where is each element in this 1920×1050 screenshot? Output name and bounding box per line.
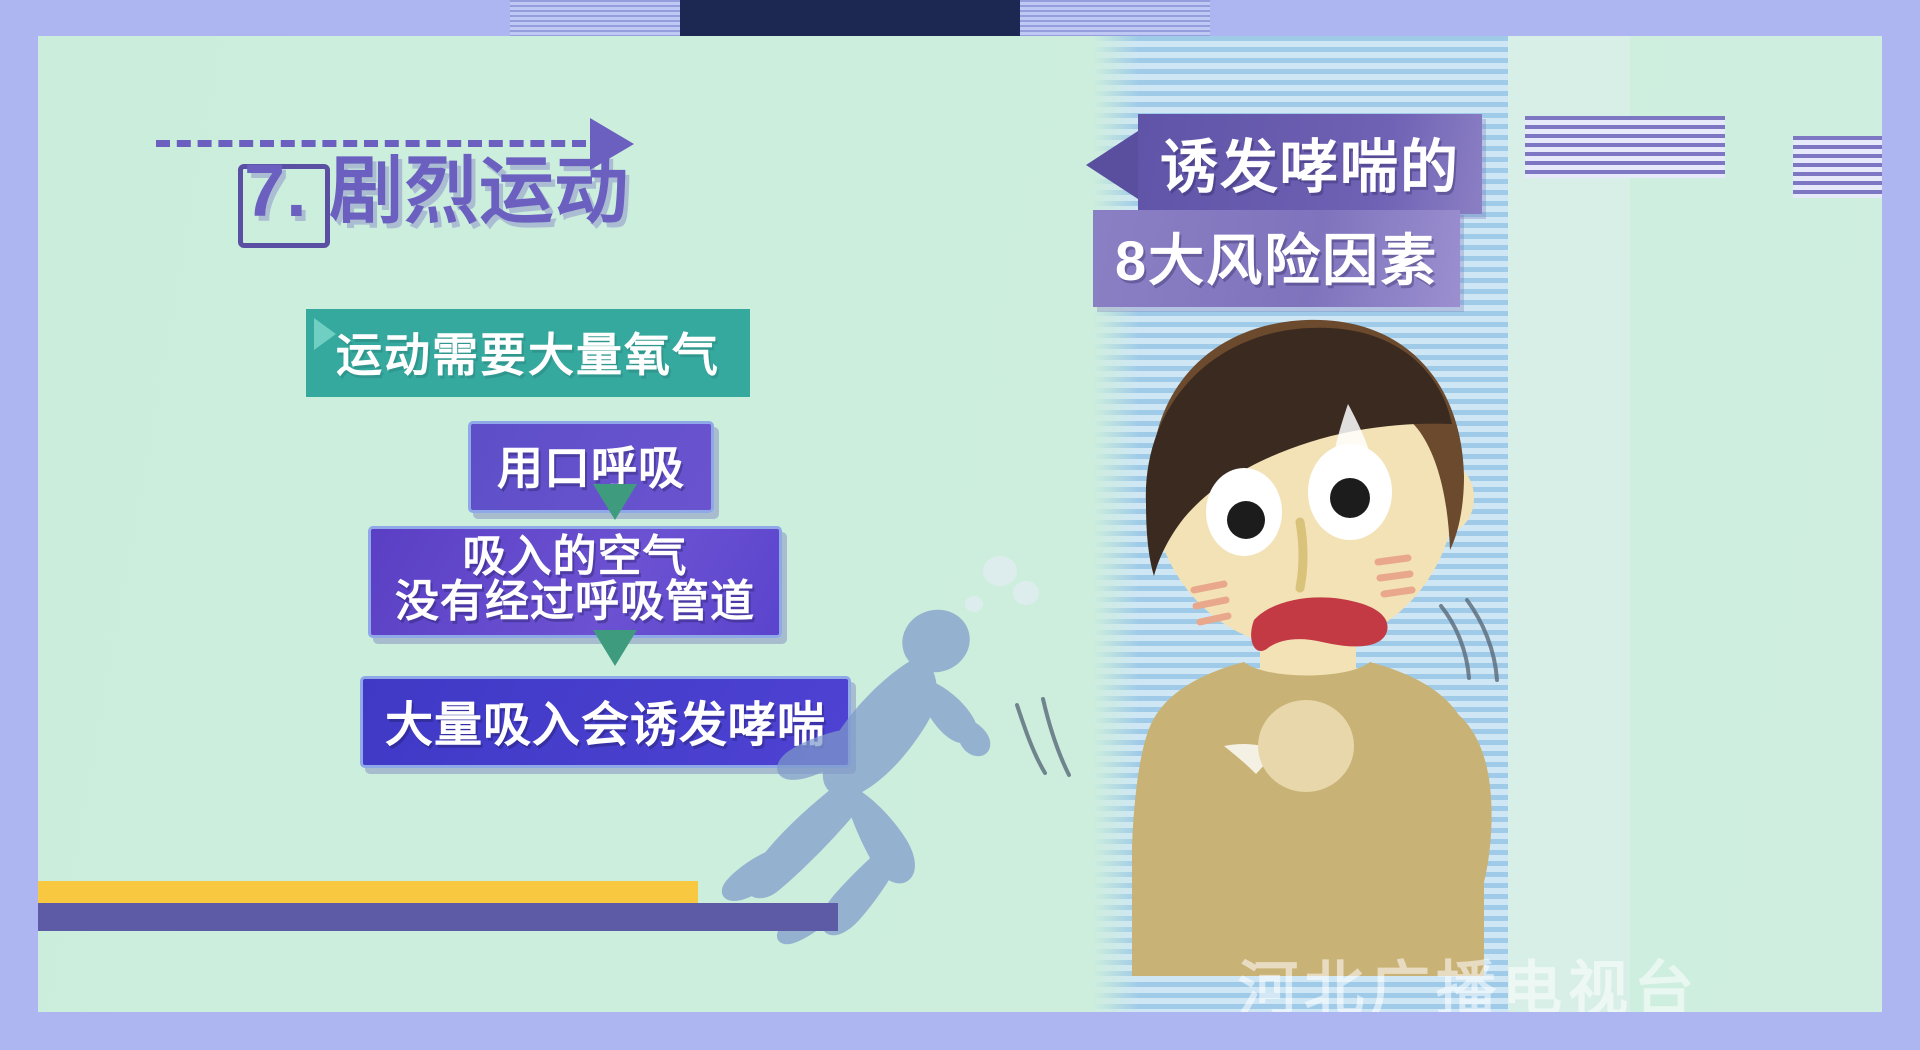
headline-title: 7. 剧烈运动	[244, 152, 864, 230]
teal-band-tick-icon	[314, 318, 336, 350]
motion-lines-right-icon	[1423, 596, 1543, 706]
motion-lines-left-icon	[1003, 691, 1113, 801]
right-decoration-lines-2	[1793, 136, 1882, 198]
flow-arrow-down-icon-1	[593, 484, 637, 520]
right-arrow-left-icon	[1086, 131, 1138, 199]
right-content-column: 诱发哮喘的 8大风险因素	[1093, 36, 1882, 1012]
headline-arrow-icon	[590, 118, 634, 170]
runner-silhouette-icon	[678, 601, 1008, 946]
headline-group: 7. 剧烈运动	[238, 156, 858, 266]
bottom-bar-yellow	[38, 881, 698, 903]
left-content-column: 7. 剧烈运动 运动需要大量氧气 用口呼吸 吸入的空气 没有经过呼吸管道 大量吸…	[38, 36, 1098, 1012]
frame-top-stripe-left	[510, 0, 680, 36]
right-decoration-lines-1	[1525, 116, 1725, 178]
frame-top-navy-block	[680, 0, 1020, 36]
wheeze-puff-icon-3	[965, 596, 983, 612]
bottom-bar-purple	[38, 903, 838, 931]
teal-statement-band: 运动需要大量氧气	[306, 309, 750, 397]
flow-step-2-line-1: 吸入的空气	[395, 535, 755, 580]
broadcaster-watermark: 河北广播电视台	[1238, 941, 1700, 1012]
frame-top-stripe-right	[1020, 0, 1210, 36]
infographic-stage: 7. 剧烈运动 运动需要大量氧气 用口呼吸 吸入的空气 没有经过呼吸管道 大量吸…	[38, 36, 1882, 1012]
wheeze-puff-icon-1	[983, 556, 1017, 586]
headline-dashed-line	[156, 140, 586, 147]
flow-step-1: 用口呼吸	[468, 421, 714, 513]
series-title-line-1: 诱发哮喘的	[1138, 114, 1482, 214]
flow-arrow-down-icon-2	[593, 630, 637, 666]
wheeze-puff-icon-2	[1013, 581, 1039, 605]
